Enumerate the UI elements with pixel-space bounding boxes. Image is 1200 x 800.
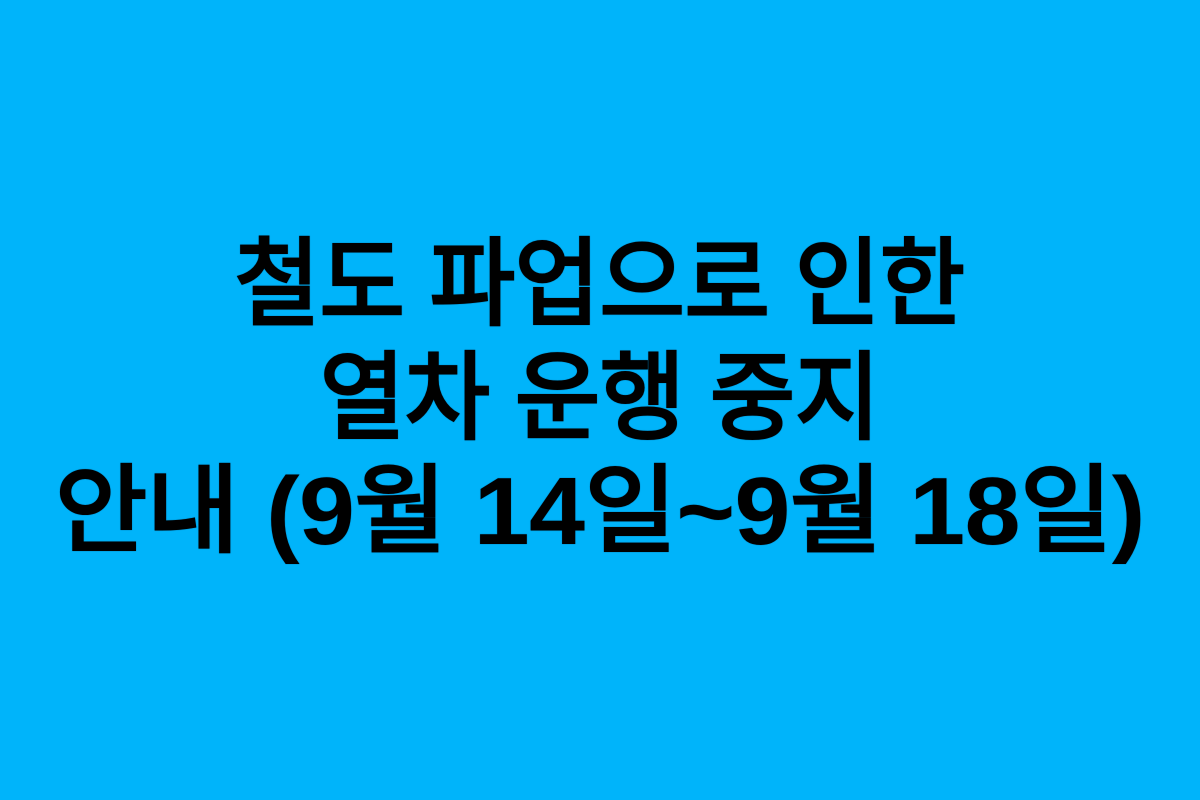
notice-headline-line-3-text: 안내 (9월 14일~9월 18일)	[55, 455, 1145, 568]
notice-headline-line-2: 열차 운행 중지	[0, 342, 1200, 455]
notice-text-block: 철도 파업으로 인한 열차 운행 중지 안내 (9월 14일~9월 18일)	[0, 227, 1200, 568]
notice-headline-line-2-text: 열차 운행 중지	[320, 342, 880, 455]
notice-headline-line-1-text: 철도 파업으로 인한	[235, 227, 965, 342]
notice-headline-line-1: 철도 파업으로 인한	[0, 227, 1200, 342]
notice-banner: 철도 파업으로 인한 열차 운행 중지 안내 (9월 14일~9월 18일)	[0, 0, 1200, 800]
notice-headline-line-3: 안내 (9월 14일~9월 18일)	[0, 455, 1200, 568]
